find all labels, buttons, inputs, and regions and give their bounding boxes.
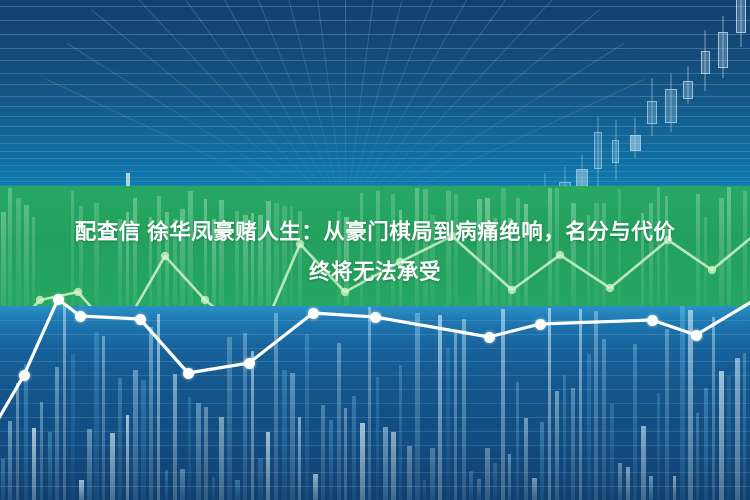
line-marker bbox=[135, 314, 146, 325]
line-marker bbox=[484, 332, 495, 343]
page-title: 配查信 徐华凤豪赌人生：从豪门棋局到病痛绝响，名分与代价 终将无法承受 bbox=[0, 212, 750, 292]
line-marker bbox=[19, 370, 30, 381]
line-marker bbox=[183, 368, 194, 379]
line-marker bbox=[53, 294, 64, 305]
headline-line-2: 终将无法承受 bbox=[0, 252, 750, 292]
line-marker bbox=[691, 330, 702, 341]
line-marker bbox=[647, 315, 658, 326]
line-marker bbox=[244, 358, 255, 369]
banner-image: 配查信 徐华凤豪赌人生：从豪门棋局到病痛绝响，名分与代价 终将无法承受 bbox=[0, 0, 750, 500]
line-marker bbox=[308, 308, 319, 319]
line-marker bbox=[535, 319, 546, 330]
line-marker bbox=[75, 311, 86, 322]
headline-line-1: 配查信 徐华凤豪赌人生：从豪门棋局到病痛绝响，名分与代价 bbox=[0, 212, 750, 252]
line-marker bbox=[370, 312, 381, 323]
